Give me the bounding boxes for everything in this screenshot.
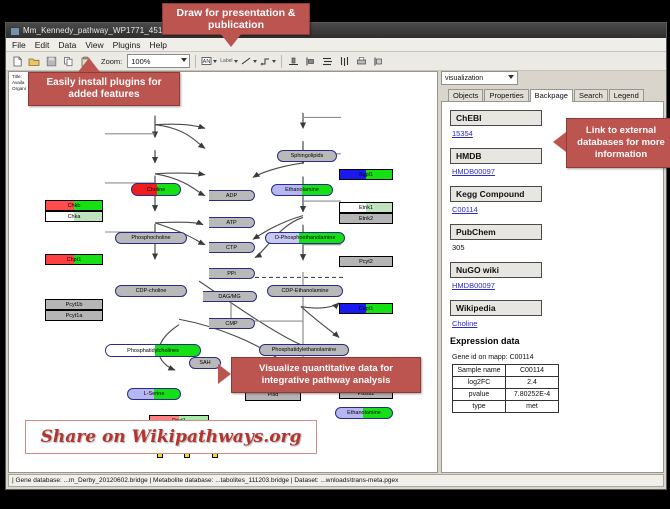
expression-value: 2.4 (506, 377, 559, 389)
db-header-hmdb: HMDB (450, 148, 542, 164)
db-header-kegg-compound: Kegg Compound (450, 186, 542, 202)
pathway-canvas[interactable]: Title: Availa Organi (8, 71, 438, 473)
tab-backpage[interactable]: Backpage (530, 89, 573, 102)
callout-visualize-arrow (218, 364, 231, 384)
zoom-value: 100% (131, 57, 150, 66)
chevron-down-icon (234, 60, 238, 63)
side-panel-tabs: Objects Properties Backpage Search Legen… (441, 88, 664, 102)
db-header-chebi: ChEBI (450, 110, 542, 126)
chevron-down-icon (213, 60, 217, 63)
db-header-wikipedia: Wikipedia (450, 300, 542, 316)
node-ctp[interactable]: CTP (209, 242, 255, 253)
node-phosphatidylcholine[interactable]: Phosphatidylcholines (105, 344, 201, 357)
table-row: pvalue 7.80252E-4 (453, 389, 559, 401)
zoom-combobox[interactable]: 100% (127, 54, 190, 68)
chevron-down-icon (181, 58, 187, 62)
line-dropdown[interactable] (241, 56, 257, 66)
toolbar-separator (195, 55, 196, 68)
node-ethanolamine[interactable]: Ethanolamine (271, 184, 333, 196)
gene-sgpl1[interactable]: Sgpl1 (339, 169, 393, 180)
node-l-serine-left[interactable]: L-Serine (127, 388, 181, 400)
connector-dropdown[interactable] (260, 56, 276, 66)
gene-cept1[interactable]: Cept1 (339, 303, 393, 314)
node-ethanolamine-bottom[interactable]: Ethanolamine (335, 407, 393, 419)
callout-links: Link to external databases for more info… (566, 118, 670, 168)
menu-item-edit[interactable]: Edit (35, 40, 50, 50)
callout-visualize: Visualize quantitative data for integrat… (231, 357, 421, 393)
canvas-info: Title: Availa Organi (12, 74, 26, 92)
node-cdp-ethanolamine[interactable]: CDP-Ethanolamine (267, 285, 343, 297)
db-link-kegg-compound[interactable]: C00114 (452, 205, 663, 214)
tab-legend[interactable]: Legend (609, 89, 644, 101)
gene-id-on-mapp: Gene id on mapp: C00114 (452, 354, 663, 361)
toolbar-separator (281, 55, 282, 68)
table-row: type met (453, 401, 559, 413)
expression-key: pvalue (453, 389, 506, 401)
db-value-pubchem: 305 (452, 243, 663, 252)
expression-value: C00114 (506, 365, 559, 377)
align-rows-icon[interactable] (321, 54, 335, 68)
db-block-wikipedia: Wikipedia Choline (450, 298, 663, 328)
node-sah[interactable]: SAH (189, 357, 221, 369)
datanode-dropdown[interactable]: AN (201, 56, 217, 66)
align-left-icon[interactable] (304, 54, 318, 68)
gene-pcyt1a[interactable]: Pcyt1a (45, 310, 103, 321)
db-block-pubchem: PubChem 305 (450, 222, 663, 252)
tab-objects[interactable]: Objects (448, 89, 483, 101)
menu-item-help[interactable]: Help (150, 40, 167, 50)
gene-chpt1[interactable]: Chpt1 (45, 254, 103, 265)
expression-value: 7.80252E-4 (506, 389, 559, 401)
canvas-info-organism: Organi (12, 86, 26, 92)
menu-item-view[interactable]: View (85, 40, 103, 50)
menu-item-plugins[interactable]: Plugins (113, 40, 141, 50)
node-adp[interactable]: ADP (209, 190, 255, 201)
gene-etnk1[interactable]: Etnk1 (339, 202, 393, 213)
gene-pcyt2[interactable]: Pcyt2 (339, 256, 393, 267)
gene-chka[interactable]: Chka (45, 211, 103, 222)
expression-key: type (453, 401, 506, 413)
zoom-label: Zoom: (101, 57, 122, 66)
menu-item-data[interactable]: Data (58, 40, 76, 50)
node-dag-mg[interactable]: DAG/MG (203, 291, 257, 302)
order-icon[interactable] (372, 54, 386, 68)
callout-draw-arrow (220, 33, 242, 47)
new-file-icon[interactable] (10, 54, 24, 68)
node-cdp-choline[interactable]: CDP-choline (115, 285, 187, 297)
print-icon[interactable] (355, 54, 369, 68)
callout-plugins: Easily install plugins for added feature… (28, 72, 180, 106)
callout-draw: Draw for presentation & publication (162, 3, 310, 35)
callout-links-arrow (553, 132, 566, 152)
db-header-nugo-wiki: NuGO wiki (450, 262, 542, 278)
window-titlebar: Mm_Kennedy_pathway_WP1771_45176.gpml (6, 23, 666, 38)
expression-key: Sample name (453, 365, 506, 377)
svg-text:AN: AN (203, 59, 211, 65)
node-sphingolipids[interactable]: Sphingolipids (277, 150, 337, 162)
copy-icon[interactable] (61, 54, 75, 68)
align-columns-icon[interactable] (338, 54, 352, 68)
node-o-phosphoethanolamine[interactable]: O-Phosphoethanolamine (265, 232, 345, 244)
menubar: File Edit Data View Plugins Help (6, 38, 666, 52)
node-choline-top[interactable]: Choline (131, 183, 181, 196)
expression-value: met (506, 401, 559, 413)
expression-data-heading: Expression data (450, 336, 663, 346)
gene-chkb[interactable]: Chkb (45, 200, 103, 211)
db-block-kegg: Kegg Compound C00114 (450, 184, 663, 214)
visualization-row: visualization (441, 71, 664, 85)
statusbar: | Gene database: ...m_Derby_20120602.bri… (8, 474, 664, 487)
chevron-down-icon (253, 60, 257, 63)
screenshot-root: Mm_Kennedy_pathway_WP1771_45176.gpml Fil… (0, 0, 670, 509)
callout-share: Share on Wikipathways.org (25, 420, 317, 454)
node-phosphatidylethanolamine[interactable]: Phosphatidylethanolamine (259, 344, 349, 356)
chevron-down-icon (272, 60, 276, 63)
open-folder-icon[interactable] (27, 54, 41, 68)
visualization-select[interactable]: visualization (441, 71, 518, 85)
gene-pcyt1b[interactable]: Pcyt1b (45, 299, 103, 310)
gene-etnk2[interactable]: Etnk2 (339, 213, 393, 224)
tab-search[interactable]: Search (574, 89, 608, 101)
align-top-icon[interactable] (287, 54, 301, 68)
table-row: log2FC 2.4 (453, 377, 559, 389)
node-phosphocholine[interactable]: Phosphocholine (115, 232, 187, 244)
tab-properties[interactable]: Properties (484, 89, 528, 101)
expression-table: Sample name C00114 log2FC 2.4 pvalue 7.8… (452, 364, 559, 413)
app-icon (10, 26, 19, 35)
chevron-down-icon (508, 75, 514, 79)
visualization-select-value: visualization (445, 75, 483, 82)
node-ppi[interactable]: PPi (209, 268, 255, 279)
callout-plugins-arrow (78, 58, 100, 72)
db-block-nugo: NuGO wiki HMDB00097 (450, 260, 663, 290)
expression-key: log2FC (453, 377, 506, 389)
save-icon[interactable] (44, 54, 58, 68)
node-atp[interactable]: ATP (209, 217, 255, 228)
table-row: Sample name C00114 (453, 365, 559, 377)
db-link-wikipedia[interactable]: Choline (452, 319, 663, 328)
share-label: Share on Wikipathways.org (41, 427, 302, 447)
label-dropdown[interactable]: Label (220, 58, 237, 64)
db-link-hmdb[interactable]: HMDB00097 (452, 167, 663, 176)
node-cmp[interactable]: CMP (209, 318, 255, 329)
db-header-pubchem: PubChem (450, 224, 542, 240)
db-link-nugo-wiki[interactable]: HMDB00097 (452, 281, 663, 290)
menu-item-file[interactable]: File (12, 40, 26, 50)
